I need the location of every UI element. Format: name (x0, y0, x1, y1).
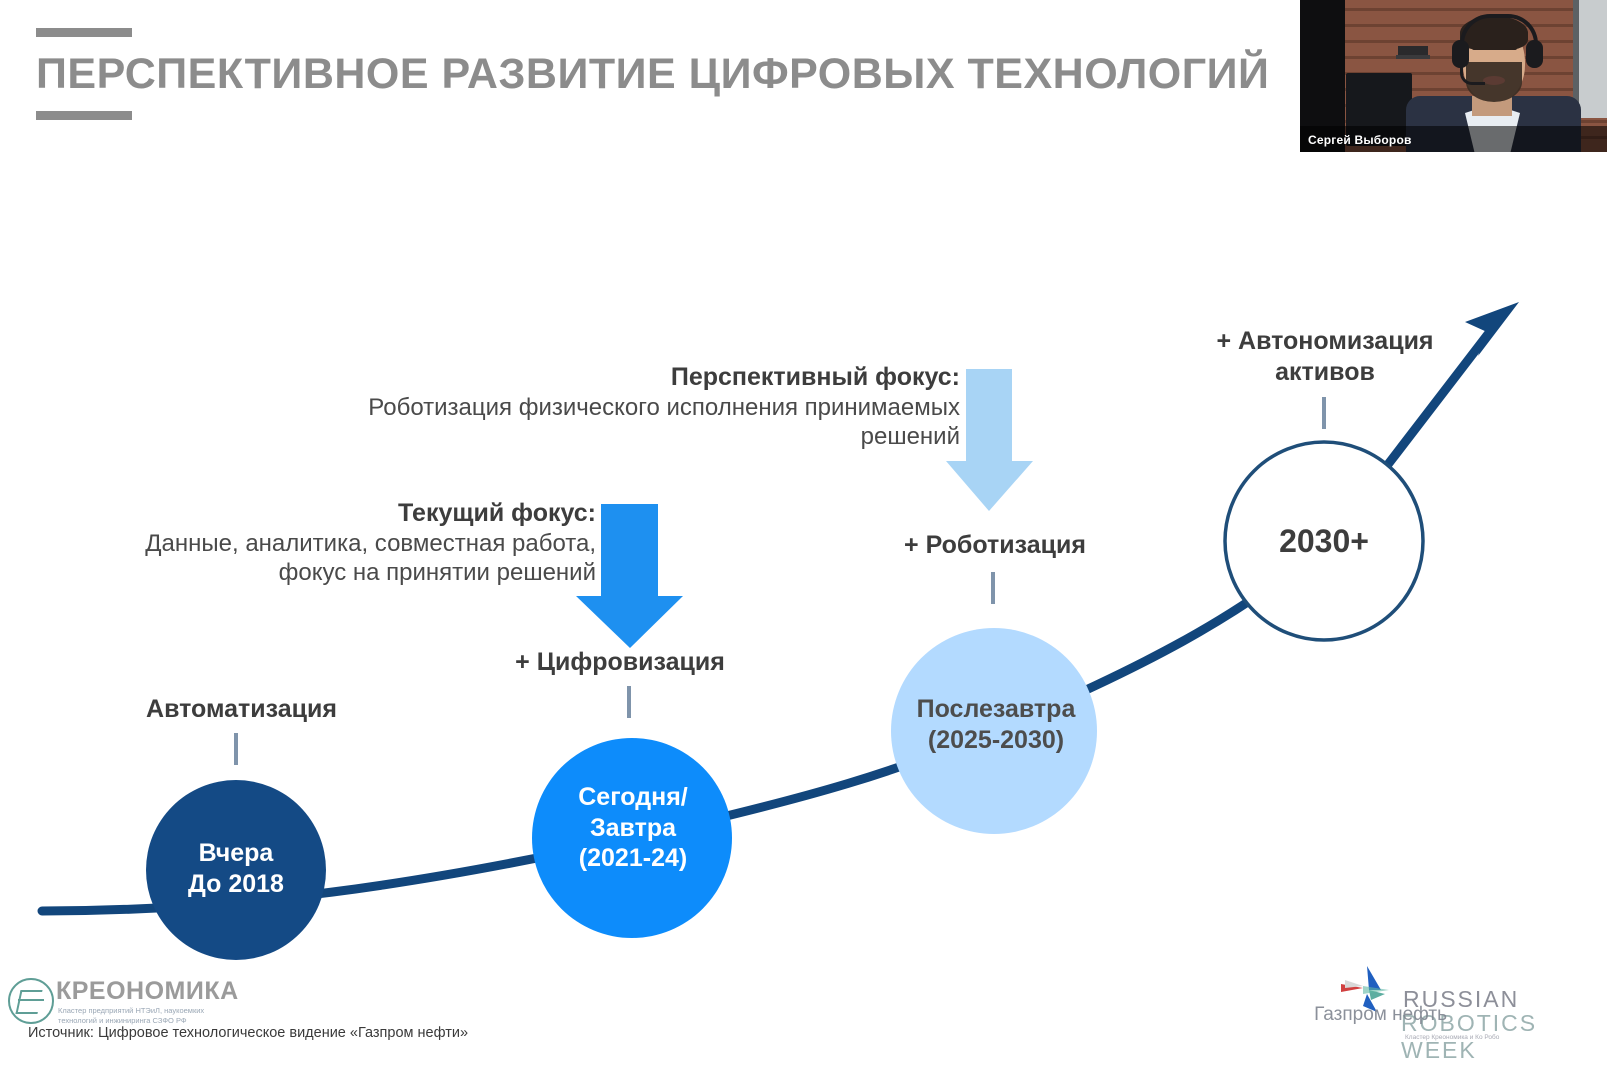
callout-future-focus: Перспективный фокус: Роботизация физичес… (330, 362, 960, 451)
video-participant-tile[interactable]: Сергей Выборов (1300, 0, 1607, 152)
callout-future-line1: Роботизация физического исполнения прини… (330, 393, 960, 422)
node-label-dayafter-line1: Послезавтра (898, 694, 1094, 725)
node-label-2030plus: 2030+ (1232, 522, 1416, 561)
node-label-today-line3: (2021-24) (540, 843, 726, 874)
node-label-yesterday: Вчера До 2018 (150, 838, 322, 899)
callout-future-heading: Перспективный фокус: (330, 362, 960, 393)
node-label-today-line1: Сегодня/ (540, 782, 726, 813)
creonomika-wordmark: КРЕОНОМИКА (56, 977, 239, 1006)
video-shelf (1398, 46, 1428, 55)
callout-current-focus: Текущий фокус: Данные, аналитика, совмес… (96, 498, 596, 587)
headset-mic-icon (1460, 66, 1485, 85)
headset-earcup-left-icon (1452, 40, 1469, 68)
video-shelf-board (1396, 55, 1430, 59)
creonomika-tagline-line1: Кластер предприятий НТЭиЛ, наукоемких (58, 1006, 228, 1016)
stage-label-autonomization-line2: активов (1170, 357, 1480, 388)
gazprom-neft-watermark: Газпром нефть (1314, 1004, 1447, 1026)
stage-label-autonomization: + Автономизация активов (1170, 326, 1480, 387)
node-label-yesterday-line2: До 2018 (150, 869, 322, 900)
stage-label-digitalization: + Цифровизация (480, 647, 760, 678)
node-label-dayafter-line2: (2025-2030) (898, 725, 1094, 756)
node-label-yesterday-line1: Вчера (150, 838, 322, 869)
stage-label-automation: Автоматизация (134, 694, 349, 725)
slide-canvas: ПЕРСПЕКТИВНОЕ РАЗВИТИЕ ЦИФРОВЫХ ТЕХНОЛОГ… (0, 0, 1607, 1080)
creonomika-logo: КРЕОНОМИКА Кластер предприятий НТЭиЛ, на… (8, 975, 228, 1023)
callout-current-line2: фокус на принятии решений (96, 558, 596, 587)
stage-label-autonomization-line1: + Автономизация (1170, 326, 1480, 357)
headset-earcup-right-icon (1526, 40, 1543, 68)
video-participant-name: Сергей Выборов (1308, 133, 1412, 147)
node-label-today-line2: Завтра (540, 813, 726, 844)
stage-label-robotization: + Роботизация (860, 530, 1130, 561)
callout-current-heading: Текущий фокус: (96, 498, 596, 529)
node-label-today: Сегодня/ Завтра (2021-24) (540, 782, 726, 874)
video-person-mouth (1483, 76, 1505, 85)
rrw-tagline: Кластер Креономика и Ко Робо (1405, 1034, 1499, 1041)
source-note: Источник: Цифровое технологическое виден… (28, 1025, 468, 1041)
video-window (1573, 0, 1607, 118)
callout-current-line1: Данные, аналитика, совместная работа, (96, 529, 596, 558)
creonomika-emblem-icon (8, 978, 54, 1024)
creonomika-tagline: Кластер предприятий НТЭиЛ, наукоемких те… (58, 1006, 228, 1026)
node-label-dayafter: Послезавтра (2025-2030) (898, 694, 1094, 755)
callout-future-line2: решений (330, 422, 960, 451)
